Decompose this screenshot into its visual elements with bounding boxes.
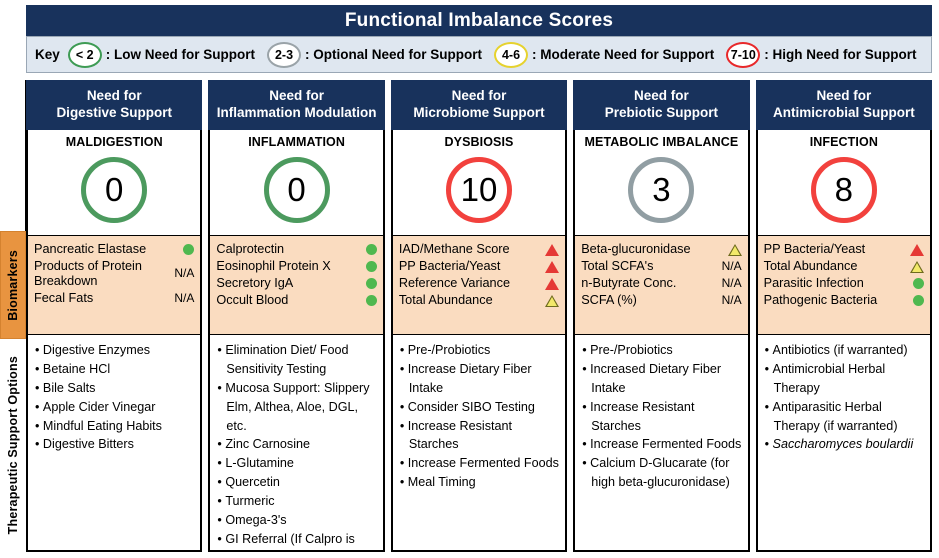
therapy-item: Quercetin xyxy=(217,473,377,492)
biomarker-row: PP Bacteria/Yeast xyxy=(399,258,559,275)
key-item-optional: 2-3 : Optional Need for Support xyxy=(265,42,492,68)
therapy-item: Antimicrobial Herbal Therapy xyxy=(765,360,925,398)
biomarker-name: Secretory IgA xyxy=(216,275,342,292)
row-label-biomarkers-text: Biomarkers xyxy=(6,250,20,321)
therapy-item-text: Mucosa Support: Slippery Elm, Althea, Al… xyxy=(225,381,369,433)
biomarker-status xyxy=(890,275,924,292)
therapy-item-text: Increase Resistant Starches xyxy=(408,419,512,452)
therapy-item: Apple Cider Vinegar xyxy=(35,398,195,417)
biomarker-panel: PP Bacteria/YeastTotal AbundanceParasiti… xyxy=(756,235,932,335)
biomarker-status: N/A xyxy=(160,290,194,307)
therapy-item-text: Increased Dietary Fiber Intake xyxy=(590,362,721,395)
therapy-item-text: Elimination Diet/ Food Sensitivity Testi… xyxy=(225,343,348,376)
therapy-item: Omega-3's xyxy=(217,511,377,530)
status-green-dot xyxy=(366,278,377,289)
biomarker-table: Pancreatic ElastaseProducts of ProteinBr… xyxy=(34,241,194,307)
column-header: Need forAntimicrobial Support xyxy=(756,80,932,130)
therapy-item: Antiparasitic Herbal Therapy (if warrant… xyxy=(765,398,925,436)
therapy-item-text: Increase Fermented Foods xyxy=(408,456,559,470)
therapy-item-text: Antimicrobial Herbal Therapy xyxy=(773,362,886,395)
therapy-item-text: Saccharomyces boulardii xyxy=(773,437,914,451)
biomarker-row: Eosinophil Protein X xyxy=(216,258,376,275)
therapy-item-text: Increase Resistant Starches xyxy=(590,400,694,433)
biomarker-name: PP Bacteria/Yeast xyxy=(399,258,525,275)
biomarker-panel: Pancreatic ElastaseProducts of ProteinBr… xyxy=(26,235,202,335)
therapy-item-text: Quercetin xyxy=(225,475,280,489)
status-green-dot xyxy=(913,278,924,289)
column-header: Need forMicrobiome Support xyxy=(391,80,567,130)
key-badge-high: 7-10 xyxy=(726,42,760,68)
biomarker-status xyxy=(343,258,377,275)
biomarker-name: Total Abundance xyxy=(399,292,525,309)
condition-name: DYSBIOSIS xyxy=(445,136,514,150)
biomarker-status xyxy=(708,241,742,258)
score-badge: 0 xyxy=(264,157,330,223)
therapy-item-text: Increase Dietary Fiber Intake xyxy=(408,362,532,395)
therapy-item: Increase Dietary Fiber Intake xyxy=(400,360,560,398)
status-red-triangle xyxy=(545,261,559,273)
status-yellow-triangle xyxy=(910,261,924,273)
therapy-item: Calcium D-Glucarate (for high beta-glucu… xyxy=(582,454,742,492)
therapy-list: Pre-/ProbioticsIncrease Dietary Fiber In… xyxy=(400,341,560,492)
therapy-item: Saccharomyces boulardii xyxy=(765,435,925,454)
status-red-triangle xyxy=(545,278,559,290)
column-header: Need forPrebiotic Support xyxy=(573,80,749,130)
biomarker-row: Total Abundance xyxy=(399,292,559,309)
biomarker-name: Products of ProteinBreakdown xyxy=(34,258,160,290)
score-panel: MALDIGESTION0 xyxy=(26,130,202,235)
therapy-item-text: Calcium D-Glucarate (for high beta-glucu… xyxy=(590,456,730,489)
status-green-dot xyxy=(366,261,377,272)
column-header-line2: Antimicrobial Support xyxy=(773,105,915,122)
biomarker-row: Total Abundance xyxy=(764,258,924,275)
biomarker-name: PP Bacteria/Yeast xyxy=(764,241,890,258)
therapy-item: Bile Salts xyxy=(35,379,195,398)
biomarker-status xyxy=(525,292,559,309)
biomarker-row: n-Butyrate Conc.N/A xyxy=(581,275,741,292)
status-na: N/A xyxy=(174,291,194,305)
therapy-item: Pre-/Probiotics xyxy=(400,341,560,360)
therapy-item-text: Mindful Eating Habits xyxy=(43,419,162,433)
status-na: N/A xyxy=(722,293,742,307)
key-legend: Key < 2 : Low Need for Support 2-3 : Opt… xyxy=(26,36,932,73)
therapy-item: Meal Timing xyxy=(400,473,560,492)
biomarker-panel: Beta-glucuronidaseTotal SCFA'sN/An-Butyr… xyxy=(573,235,749,335)
condition-name: INFLAMMATION xyxy=(248,136,345,150)
therapy-panel: Pre-/ProbioticsIncrease Dietary Fiber In… xyxy=(391,335,567,552)
biomarker-table: Beta-glucuronidaseTotal SCFA'sN/An-Butyr… xyxy=(581,241,741,309)
therapy-item-text: L-Glutamine xyxy=(225,456,294,470)
key-text-optional: : Optional Need for Support xyxy=(305,47,482,62)
status-na: N/A xyxy=(722,259,742,273)
column-header-line1: Need for xyxy=(816,88,871,105)
biomarker-row: Parasitic Infection xyxy=(764,275,924,292)
key-item-high: 7-10 : High Need for Support xyxy=(724,42,916,68)
biomarker-table: PP Bacteria/YeastTotal AbundanceParasiti… xyxy=(764,241,924,309)
biomarker-row: Beta-glucuronidase xyxy=(581,241,741,258)
biomarker-name: Eosinophil Protein X xyxy=(216,258,342,275)
therapy-item-text: Zinc Carnosine xyxy=(225,437,310,451)
therapy-item: Pre-/Probiotics xyxy=(582,341,742,360)
therapy-item: Increased Dietary Fiber Intake xyxy=(582,360,742,398)
status-yellow-triangle xyxy=(728,244,742,256)
biomarker-status xyxy=(890,258,924,275)
status-green-dot xyxy=(366,295,377,306)
therapy-item-text: Antibiotics (if warranted) xyxy=(773,343,908,357)
biomarker-status: N/A xyxy=(708,258,742,275)
biomarker-status: N/A xyxy=(708,275,742,292)
column-header-line1: Need for xyxy=(269,88,324,105)
therapy-item: Zinc Carnosine xyxy=(217,435,377,454)
biomarker-row: PP Bacteria/Yeast xyxy=(764,241,924,258)
therapy-item: Digestive Bitters xyxy=(35,435,195,454)
biomarker-status xyxy=(525,275,559,292)
biomarker-row: Fecal FatsN/A xyxy=(34,290,194,307)
biomarker-row: Pathogenic Bacteria xyxy=(764,292,924,309)
biomarker-panel: CalprotectinEosinophil Protein XSecretor… xyxy=(208,235,384,335)
therapy-item-text: Digestive Enzymes xyxy=(43,343,150,357)
status-na: N/A xyxy=(722,276,742,290)
key-badge-moderate: 4-6 xyxy=(494,42,528,68)
biomarker-status: N/A xyxy=(160,258,194,290)
biomarker-name: n-Butyrate Conc. xyxy=(581,275,707,292)
score-columns: Need forDigestive SupportMALDIGESTION0Pa… xyxy=(26,80,932,552)
therapy-item-text: Pre-/Probiotics xyxy=(408,343,491,357)
therapy-item: Digestive Enzymes xyxy=(35,341,195,360)
biomarker-name: IAD/Methane Score xyxy=(399,241,525,258)
biomarker-row: IAD/Methane Score xyxy=(399,241,559,258)
score-badge: 0 xyxy=(81,157,147,223)
condition-name: METABOLIC IMBALANCE xyxy=(585,136,739,150)
column-header-line1: Need for xyxy=(87,88,142,105)
therapy-item-text: Bile Salts xyxy=(43,381,96,395)
biomarker-panel: IAD/Methane ScorePP Bacteria/YeastRefere… xyxy=(391,235,567,335)
biomarker-status: N/A xyxy=(708,292,742,309)
therapy-item-text: Apple Cider Vinegar xyxy=(43,400,155,414)
biomarker-name: Total Abundance xyxy=(764,258,890,275)
therapy-list: Pre-/ProbioticsIncreased Dietary Fiber I… xyxy=(582,341,742,492)
biomarker-status xyxy=(343,292,377,309)
status-red-triangle xyxy=(910,244,924,256)
biomarker-name: Occult Blood xyxy=(216,292,342,309)
biomarker-name: Pathogenic Bacteria xyxy=(764,292,890,309)
biomarker-name: Total SCFA's xyxy=(581,258,707,275)
column-header: Need forDigestive Support xyxy=(26,80,202,130)
therapy-item-text: Pre-/Probiotics xyxy=(590,343,673,357)
status-green-dot xyxy=(183,244,194,255)
biomarker-name: Fecal Fats xyxy=(34,290,160,307)
biomarker-row: Pancreatic Elastase xyxy=(34,241,194,258)
biomarker-status xyxy=(525,241,559,258)
biomarker-name: Beta-glucuronidase xyxy=(581,241,707,258)
therapy-item-text: Consider SIBO Testing xyxy=(408,400,535,414)
row-label-therapeutic: Therapeutic Support Options xyxy=(0,339,26,552)
score-badge: 8 xyxy=(811,157,877,223)
therapy-item: L-Glutamine xyxy=(217,454,377,473)
therapy-item: Mucosa Support: Slippery Elm, Althea, Al… xyxy=(217,379,377,436)
key-label: Key xyxy=(35,47,60,62)
therapy-item-text: Omega-3's xyxy=(225,513,286,527)
therapy-item: Mindful Eating Habits xyxy=(35,417,195,436)
column-header-line2: Inflammation Modulation xyxy=(217,105,377,122)
therapy-item: Increase Fermented Foods xyxy=(582,435,742,454)
score-badge: 10 xyxy=(446,157,512,223)
therapy-item-text: Turmeric xyxy=(225,494,274,508)
column-header-line2: Microbiome Support xyxy=(413,105,544,122)
status-yellow-triangle xyxy=(545,295,559,307)
therapy-panel: Digestive EnzymesBetaine HClBile SaltsAp… xyxy=(26,335,202,552)
condition-name: MALDIGESTION xyxy=(66,136,163,150)
status-green-dot xyxy=(366,244,377,255)
therapy-item-text: Betaine HCl xyxy=(43,362,110,376)
biomarker-row: Products of ProteinBreakdownN/A xyxy=(34,258,194,290)
score-column: Need forDigestive SupportMALDIGESTION0Pa… xyxy=(26,80,202,552)
biomarker-row: Secretory IgA xyxy=(216,275,376,292)
key-badge-optional: 2-3 xyxy=(267,42,301,68)
therapy-item: GI Referral (If Calpro is Elevated) xyxy=(217,530,377,552)
biomarker-row: Occult Blood xyxy=(216,292,376,309)
biomarker-table: IAD/Methane ScorePP Bacteria/YeastRefere… xyxy=(399,241,559,309)
biomarker-status xyxy=(890,292,924,309)
therapy-panel: Elimination Diet/ Food Sensitivity Testi… xyxy=(208,335,384,552)
column-header: Need forInflammation Modulation xyxy=(208,80,384,130)
key-text-high: : High Need for Support xyxy=(764,47,916,62)
page-title: Functional Imbalance Scores xyxy=(26,5,932,36)
therapy-item: Increase Resistant Starches xyxy=(400,417,560,455)
score-badge: 3 xyxy=(628,157,694,223)
key-badge-low: < 2 xyxy=(68,42,102,68)
biomarker-row: Reference Variance xyxy=(399,275,559,292)
therapy-item: Increase Resistant Starches xyxy=(582,398,742,436)
status-na: N/A xyxy=(174,266,194,280)
therapy-item-text: GI Referral (If Calpro is Elevated) xyxy=(225,532,354,552)
biomarker-status xyxy=(160,241,194,258)
therapy-item: Elimination Diet/ Food Sensitivity Testi… xyxy=(217,341,377,379)
status-red-triangle xyxy=(545,244,559,256)
biomarker-status xyxy=(890,241,924,258)
score-panel: INFECTION8 xyxy=(756,130,932,235)
therapy-item: Antibiotics (if warranted) xyxy=(765,341,925,360)
key-text-moderate: : Moderate Need for Support xyxy=(532,47,714,62)
biomarker-name: Pancreatic Elastase xyxy=(34,241,160,258)
biomarker-row: Total SCFA'sN/A xyxy=(581,258,741,275)
therapy-item-text: Digestive Bitters xyxy=(43,437,134,451)
key-item-moderate: 4-6 : Moderate Need for Support xyxy=(492,42,724,68)
biomarker-row: SCFA (%)N/A xyxy=(581,292,741,309)
therapy-list: Elimination Diet/ Food Sensitivity Testi… xyxy=(217,341,377,552)
column-header-line1: Need for xyxy=(634,88,689,105)
biomarker-name: SCFA (%) xyxy=(581,292,707,309)
score-panel: INFLAMMATION0 xyxy=(208,130,384,235)
score-column: Need forPrebiotic SupportMETABOLIC IMBAL… xyxy=(573,80,749,552)
score-panel: DYSBIOSIS10 xyxy=(391,130,567,235)
therapy-item-text: Increase Fermented Foods xyxy=(590,437,741,451)
biomarker-row: Calprotectin xyxy=(216,241,376,258)
therapy-list: Antibiotics (if warranted)Antimicrobial … xyxy=(765,341,925,454)
status-green-dot xyxy=(913,295,924,306)
score-column: Need forAntimicrobial SupportINFECTION8P… xyxy=(756,80,932,552)
condition-name: INFECTION xyxy=(810,136,878,150)
therapy-panel: Antibiotics (if warranted)Antimicrobial … xyxy=(756,335,932,552)
biomarker-status xyxy=(343,275,377,292)
score-panel: METABOLIC IMBALANCE3 xyxy=(573,130,749,235)
score-column: Need forInflammation ModulationINFLAMMAT… xyxy=(208,80,384,552)
key-text-low: : Low Need for Support xyxy=(106,47,255,62)
biomarker-table: CalprotectinEosinophil Protein XSecretor… xyxy=(216,241,376,309)
biomarker-status xyxy=(525,258,559,275)
therapy-item: Increase Fermented Foods xyxy=(400,454,560,473)
row-label-biomarkers: Biomarkers xyxy=(0,231,26,339)
therapy-item: Consider SIBO Testing xyxy=(400,398,560,417)
biomarker-name: Reference Variance xyxy=(399,275,525,292)
column-header-line1: Need for xyxy=(452,88,507,105)
therapy-item: Betaine HCl xyxy=(35,360,195,379)
score-column: Need forMicrobiome SupportDYSBIOSIS10IAD… xyxy=(391,80,567,552)
column-header-line2: Digestive Support xyxy=(56,105,172,122)
biomarker-name: Parasitic Infection xyxy=(764,275,890,292)
key-item-low: < 2 : Low Need for Support xyxy=(66,42,265,68)
therapy-item-text: Antiparasitic Herbal Therapy (if warrant… xyxy=(773,400,898,433)
therapy-item: Turmeric xyxy=(217,492,377,511)
row-label-therapeutic-text: Therapeutic Support Options xyxy=(6,356,20,534)
functional-imbalance-report: Functional Imbalance Scores Key < 2 : Lo… xyxy=(0,0,939,558)
therapy-panel: Pre-/ProbioticsIncreased Dietary Fiber I… xyxy=(573,335,749,552)
therapy-list: Digestive EnzymesBetaine HClBile SaltsAp… xyxy=(35,341,195,454)
therapy-item-text: Meal Timing xyxy=(408,475,476,489)
biomarker-name: Calprotectin xyxy=(216,241,342,258)
column-header-line2: Prebiotic Support xyxy=(605,105,718,122)
biomarker-status xyxy=(343,241,377,258)
